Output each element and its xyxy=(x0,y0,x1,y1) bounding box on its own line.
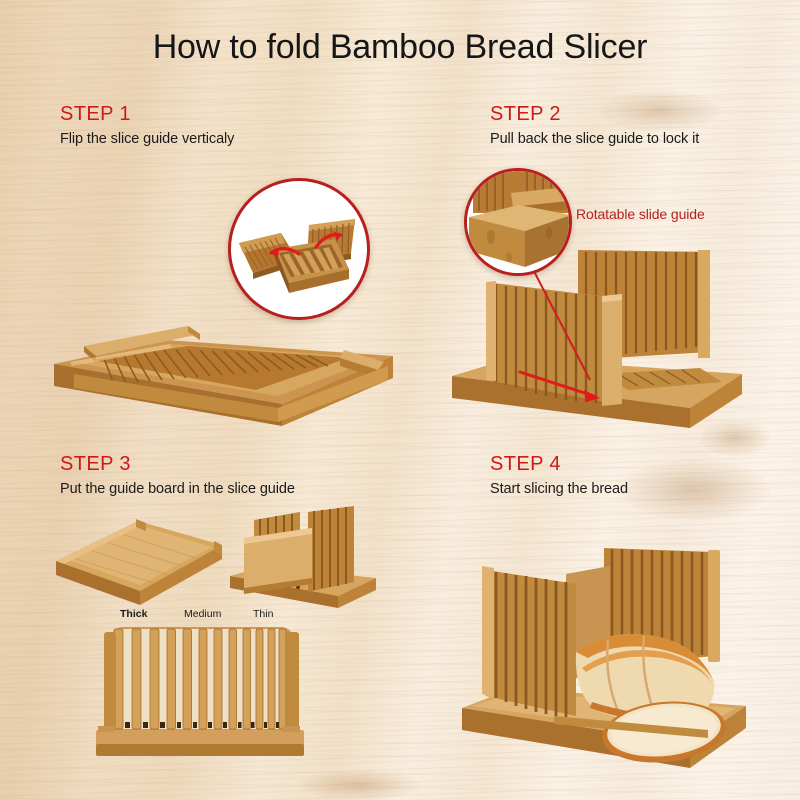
step-1-inset-circle xyxy=(228,178,370,320)
thickness-label-medium: Medium xyxy=(184,608,221,620)
step-3-caption: Put the guide board in the slice guide xyxy=(60,481,295,497)
page-title: How to fold Bamboo Bread Slicer xyxy=(0,28,800,67)
step-2-callout-label: Rotatable slide guide xyxy=(576,206,705,222)
thickness-label-thick: Thick xyxy=(120,608,147,620)
step-2-caption: Pull back the slice guide to lock it xyxy=(490,131,699,147)
step-1-inset-illustration xyxy=(231,181,370,320)
wood-knot xyxy=(620,460,770,520)
step-1-product-image xyxy=(48,300,398,430)
wood-knot xyxy=(300,770,420,800)
step-1-caption: Flip the slice guide verticaly xyxy=(60,131,234,147)
step-4-heading: STEP 4 xyxy=(490,453,561,476)
step-3-front-view-image xyxy=(92,618,312,760)
step-3-assembled-image xyxy=(226,498,386,608)
step-4-product-image xyxy=(458,540,762,772)
step-2-inset-circle xyxy=(464,168,572,276)
step-3-guide-board-image xyxy=(50,505,230,605)
wood-knot xyxy=(600,90,720,132)
step-1-heading: STEP 1 xyxy=(60,103,131,126)
thickness-label-thin: Thin xyxy=(253,608,273,620)
step-4-caption: Start slicing the bread xyxy=(490,481,628,497)
step-3-heading: STEP 3 xyxy=(60,453,131,476)
step-2-heading: STEP 2 xyxy=(490,103,561,126)
